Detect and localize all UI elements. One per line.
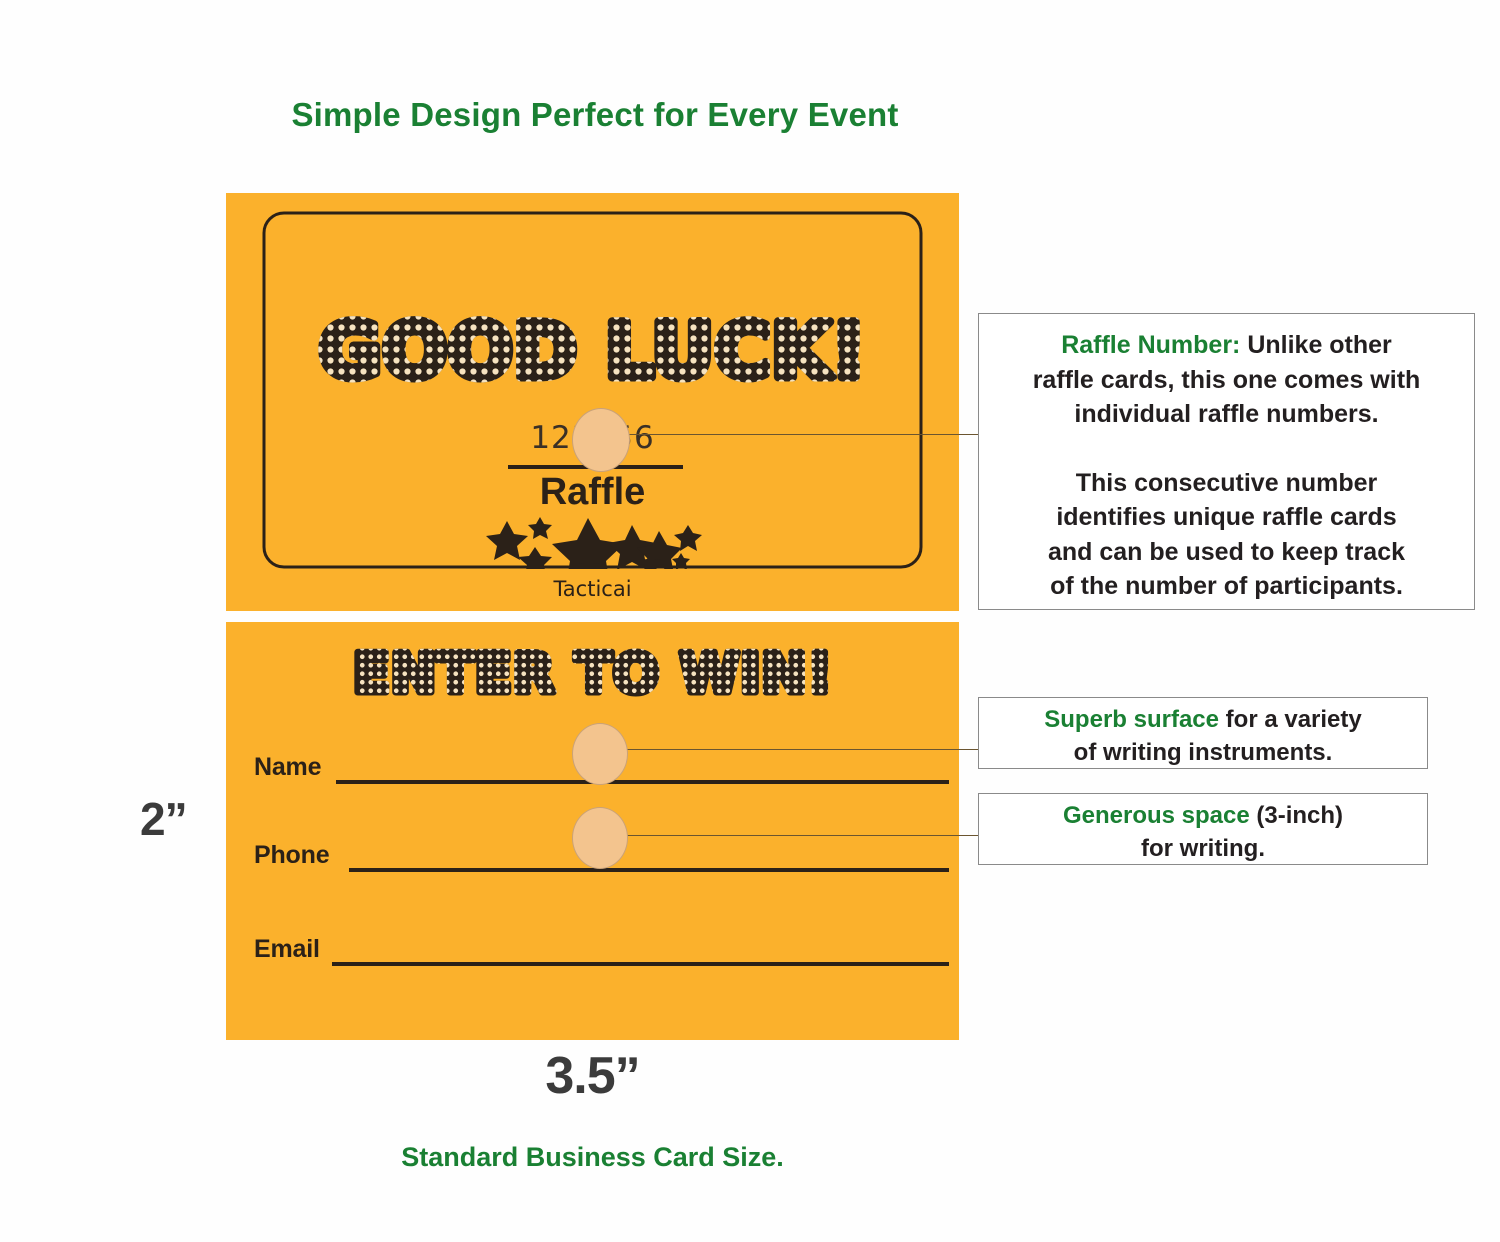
callout-surface-rest: for a variety <box>1219 706 1362 733</box>
callout-surface-line2: of writing instruments. <box>1074 739 1333 766</box>
callout-box-raffle-number: Raffle Number: Unlike other raffle cards… <box>978 313 1475 610</box>
dimension-width-label: 3.5” <box>226 1046 959 1106</box>
name-field-writeline[interactable] <box>336 780 949 784</box>
callout-paragraph-2: This consecutive number identifies uniqu… <box>991 466 1462 604</box>
good-luck-display-text: GOOD LUCK! GOOD LUCK! <box>226 311 959 393</box>
callout-box-superb-surface: Superb surface for a variety of writing … <box>978 697 1428 769</box>
page-title: Simple Design Perfect for Every Event <box>0 96 1190 134</box>
callout-highlight-generous-space: Generous space <box>1063 802 1250 829</box>
star-cluster-icon <box>226 517 959 569</box>
callout-line3: individual raffle numbers. <box>1074 400 1378 428</box>
brand-label: Tacticai <box>226 577 959 601</box>
callout-box-generous-space: Generous space (3-inch) for writing. <box>978 793 1428 865</box>
callout-marker-space <box>572 807 628 869</box>
callout-marker-raffle-number <box>572 408 630 472</box>
callout-line1-rest: Unlike other <box>1240 331 1391 359</box>
email-field-writeline[interactable] <box>332 962 949 966</box>
callout-leader-line-space <box>612 835 980 836</box>
callout-space-line2: for writing. <box>1141 835 1265 862</box>
callout-p2-line4: of the number of participants. <box>1050 572 1403 600</box>
callout-space-rest: (3-inch) <box>1250 802 1343 829</box>
callout-marker-surface <box>572 723 628 785</box>
raffle-word-label: Raffle <box>226 471 959 514</box>
callout-leader-line-surface <box>612 749 980 750</box>
card-size-note: Standard Business Card Size. <box>226 1142 959 1173</box>
email-field-label: Email <box>254 935 320 964</box>
callout-highlight-raffle-number: Raffle Number: <box>1061 331 1240 359</box>
callout-p2-line3: and can be used to keep track <box>1048 538 1405 566</box>
callout-paragraph-1: Raffle Number: Unlike other raffle cards… <box>991 328 1462 432</box>
raffle-ticket-front: GOOD LUCK! GOOD LUCK! 123456 Raffle <box>226 193 959 611</box>
enter-to-win-display-text: ENTER TO WIN! ENTER TO WIN! <box>226 644 959 706</box>
phone-field-writeline[interactable] <box>349 868 949 872</box>
callout-leader-line-raffle-number <box>610 434 978 435</box>
callout-p2-line1: This consecutive number <box>1076 469 1377 497</box>
name-field-label: Name <box>254 753 321 782</box>
email-field-row[interactable]: Email <box>254 932 949 966</box>
callout-p2-line2: identifies unique raffle cards <box>1056 503 1396 531</box>
callout-highlight-superb-surface: Superb surface <box>1044 706 1219 733</box>
dimension-height-label: 2” <box>140 792 187 846</box>
phone-field-label: Phone <box>254 841 329 870</box>
callout-line2: raffle cards, this one comes with <box>1033 366 1421 394</box>
product-infographic: Simple Design Perfect for Every Event GO… <box>0 0 1500 1242</box>
